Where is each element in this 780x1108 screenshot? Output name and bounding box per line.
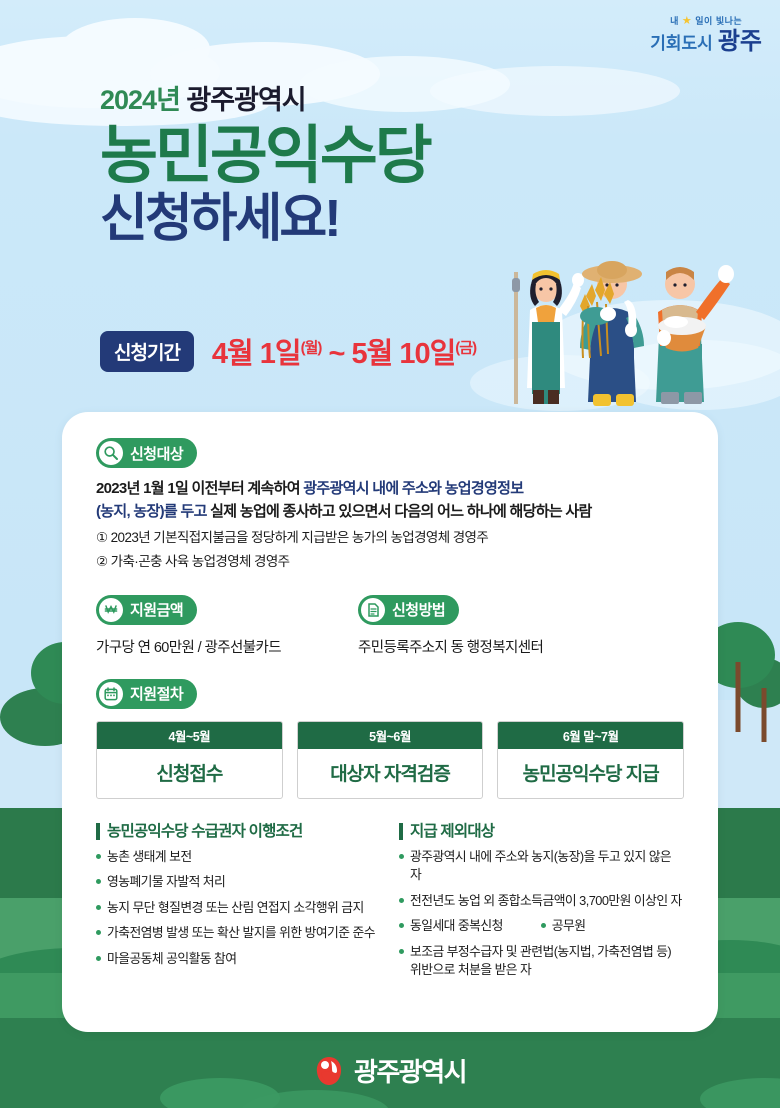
list-item-text: 영농폐기물 자발적 처리: [107, 873, 225, 892]
period-tilde: ~: [328, 338, 344, 370]
conditions-title: 농민공익수당 수급권자 이행조건: [96, 823, 381, 840]
list-item: 광주광역시 내에 주소와 농지(농장)을 두고 있지 않은 자: [399, 848, 684, 885]
target-description: 2023년 1월 1일 이전부터 계속하여 광주광역시 내에 주소와 농업경영정…: [96, 477, 684, 524]
list-item-text: 공무원: [552, 917, 586, 936]
list-item: 전전년도 농업 외 종합소득금액이 3,700만원 이상인 자: [399, 892, 684, 911]
amount-text: 가구당 연 60만원 / 광주선불카드: [96, 636, 358, 657]
content-card: 신청대상 2023년 1월 1일 이전부터 계속하여 광주광역시 내에 주소와 …: [62, 412, 718, 1032]
list-item-text: 보조금 부정수급자 및 관련법(농지법, 가축전염볍 등): [410, 944, 671, 959]
bullet-dot: [541, 923, 546, 928]
document-icon: [361, 598, 385, 622]
procedure-steps: 4월~5월 신청접수 5월~6월 대상자 자격검증 6월 말~7월 농민공익수당…: [96, 721, 684, 799]
target-line1-a: 2023년 1월 1일 이전부터 계속하여: [96, 480, 303, 497]
section-pill-label: 지원절차: [130, 683, 183, 704]
list-item: 가축전염병 발생 또는 확산 발지를 위한 방여기준 준수: [96, 924, 381, 943]
list-item: 동일세대 중복신청 공무원: [399, 917, 684, 936]
period-dates: 4월 1일(월) ~ 5월 10일(금): [212, 330, 476, 372]
list-item-text: 동일세대 중복신청: [410, 917, 503, 936]
magnifier-icon: [99, 441, 123, 465]
bullet-dot: [96, 905, 101, 910]
period-badge: 신청기간: [100, 331, 194, 372]
bullet-dot: [96, 930, 101, 935]
list-item-text: 가축전염병 발생 또는 확산 발지를 위한 방여기준 준수: [107, 924, 375, 943]
step-name: 대상자 자격검증: [298, 749, 483, 798]
list-item: 마을공동체 공익활동 참여: [96, 950, 381, 969]
bullet-dot: [399, 923, 404, 928]
exclusions-title: 지급 제외대상: [399, 823, 684, 840]
farmers-illustration: [500, 222, 750, 412]
city-brand-logo: 내 ★ 일이 빛나는 기회도시 광주: [650, 16, 762, 54]
procedure-section: 지원절차 4월~5월 신청접수 5월~6월 대상자 자격검증 6월 말~7월 농…: [96, 679, 684, 799]
target-line2-b: 실제 농업에 종사하고 있으면서 다음의 어느 하나에 해당하는 사람: [210, 503, 591, 520]
poster-root: 내 ★ 일이 빛나는 기회도시 광주 2024년 광주광역시 농민공익수당 신청…: [0, 0, 780, 1108]
brand-slogan: 내 ★ 일이 빛나는: [650, 16, 762, 27]
list-item-text: 광주광역시 내에 주소와 농지(농장)을 두고 있지 않은 자: [410, 848, 684, 885]
section-pill-amount: 지원금액: [96, 595, 197, 625]
conditions-column: 농민공익수당 수급권자 이행조건 농촌 생태계 보전 영농폐기물 자발적 처리 …: [96, 823, 381, 987]
list-item-text: 전전년도 농업 외 종합소득금액이 3,700만원 이상인 자: [410, 892, 682, 911]
poster-title-sub: 신청하세요!: [100, 191, 430, 248]
section-pill-label: 신청방법: [392, 599, 445, 620]
bottom-lists: 농민공익수당 수급권자 이행조건 농촌 생태계 보전 영농폐기물 자발적 처리 …: [96, 823, 684, 987]
period-start-day: (월): [301, 339, 322, 356]
step-period: 4월~5월: [97, 722, 282, 749]
list-item: 농지 무단 형질변경 또는 산림 연접지 소각행위 금지: [96, 899, 381, 918]
procedure-step: 5월~6월 대상자 자격검증: [297, 721, 484, 799]
target-item-1: ① 2023년 기본직접지불금을 정당하게 지급받은 농가의 농업경영체 경영주: [96, 527, 684, 549]
procedure-step: 6월 말~7월 농민공익수당 지급: [497, 721, 684, 799]
star-icon: ★: [682, 16, 692, 27]
slogan-left: 내: [670, 16, 679, 26]
list-item-text-cont: 위반으로 처분을 받은 자: [410, 962, 531, 977]
poster-title-main: 농민공익수당: [100, 123, 430, 189]
headline-year: 2024년: [100, 85, 180, 115]
target-line2-a: (농지, 농장)를 두고: [96, 503, 210, 520]
step-period: 5월~6월: [298, 722, 483, 749]
headline-year-line: 2024년 광주광역시: [100, 78, 430, 117]
brand-main: 광주: [718, 30, 762, 54]
slogan-right: 일이 빛나는: [695, 16, 742, 26]
won-icon: [99, 598, 123, 622]
bullet-dot: [399, 854, 404, 859]
list-item: 농촌 생태계 보전: [96, 848, 381, 867]
list-item-text: 마을공동체 공익활동 참여: [107, 950, 236, 969]
target-line1-b: 광주광역시 내에 주소와 농업경영정보: [303, 480, 523, 497]
section-pill-label: 지원금액: [130, 599, 183, 620]
section-pill-procedure: 지원절차: [96, 679, 197, 709]
headline-city: 광주광역시: [186, 85, 305, 115]
list-item-text-wrap: 보조금 부정수급자 및 관련법(농지법, 가축전염볍 등) 위반으로 처분을 받…: [410, 943, 671, 980]
exclusions-column: 지급 제외대상 광주광역시 내에 주소와 농지(농장)을 두고 있지 않은 자 …: [399, 823, 684, 987]
section-pill-label: 신청대상: [130, 443, 183, 464]
period-end: 5월 10일: [351, 338, 455, 370]
gwangju-emblem-icon: [314, 1054, 344, 1086]
list-item: 보조금 부정수급자 및 관련법(농지법, 가축전염볍 등) 위반으로 처분을 받…: [399, 943, 684, 980]
bullet-dot: [399, 898, 404, 903]
step-name: 농민공익수당 지급: [498, 749, 683, 798]
section-pill-target: 신청대상: [96, 438, 197, 468]
procedure-step: 4월~5월 신청접수: [96, 721, 283, 799]
bullet-dot: [96, 854, 101, 859]
calendar-icon: [99, 682, 123, 706]
brand-sub: 기회도시: [650, 35, 713, 52]
list-item: 영농폐기물 자발적 처리: [96, 873, 381, 892]
footer-city-name: 광주광역시: [354, 1052, 466, 1089]
period-end-day: (금): [455, 339, 476, 356]
bullet-dot: [96, 879, 101, 884]
step-period: 6월 말~7월: [498, 722, 683, 749]
period-start: 4월 1일: [212, 338, 301, 370]
list-item-text: 농지 무단 형질변경 또는 산림 연접지 소각행위 금지: [107, 899, 364, 918]
bullet-dot: [96, 956, 101, 961]
target-item-2: ② 가축·곤충 사육 농업경영체 경영주: [96, 551, 684, 573]
method-text: 주민등록주소지 동 행정복지센터: [358, 636, 684, 657]
cloud-shape: [430, 66, 680, 116]
amount-method-row: 지원금액 가구당 연 60만원 / 광주선불카드 신청방법 주민등록주소지 동 …: [96, 595, 684, 657]
footer-bar: 광주광역시: [0, 1032, 780, 1108]
step-name: 신청접수: [97, 749, 282, 798]
application-period-row: 신청기간 4월 1일(월) ~ 5월 10일(금): [100, 330, 476, 372]
headline-block: 2024년 광주광역시 농민공익수당 신청하세요!: [100, 78, 430, 248]
bullet-dot: [399, 949, 404, 954]
list-item-text: 농촌 생태계 보전: [107, 848, 192, 867]
section-pill-method: 신청방법: [358, 595, 459, 625]
